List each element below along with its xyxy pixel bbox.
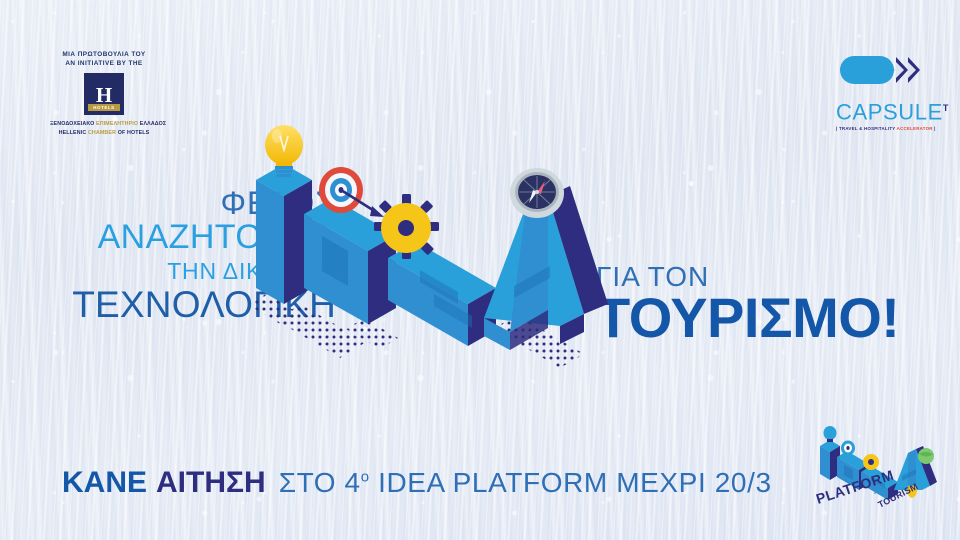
capsule-arrow-mark [836,50,932,90]
capsule-arrow-tip [882,63,895,77]
capsule-superscript-t: T [943,103,949,113]
poster-canvas: ΜΙΑ ΠΡΩΤΟΒΟΥΛΙΑ ΤΟΥ AN INITIATIVE BY THE… [0,0,960,540]
call-to-action-line: ΚΑΝΕ ΑΙΤΗΣΗ ΣΤΟ 4ο IDEA PLATFORM ΜΕΧΡΙ 2… [62,466,772,500]
chamber-name-english: HELLENIC CHAMBER OF HOTELS [50,129,158,138]
capsule-chevron-notch [896,62,904,78]
cta-emphasis-aitisi: ΑΙΤΗΣΗ [156,466,266,500]
idea-platform-tourism-logo: PLATFORM TOURISM [806,424,938,512]
chamber-name-block: ΞΕΝΟΔΟΧΕΙΑΚΟ ΕΠΙΜΕΛΗΤΗΡΙΟ ΕΛΛΑΔΟΣ HELLEN… [50,120,158,137]
logo-gear-icon [863,454,879,470]
cta-emphasis-kane: ΚΑΝΕ [62,466,147,500]
initiative-kicker-english: AN INITIATIVE BY THE [50,59,158,68]
capsule-tagline: | TRAVEL & HOSPITALITY ACCELERATOR | [836,126,932,131]
hellenic-chamber-of-hotels-logo: ΜΙΑ ΠΡΩΤΟΒΟΥΛΙΑ ΤΟΥ AN INITIATIVE BY THE… [50,50,158,137]
headline-line-tourismo: ΤΟΥΡΙΣΜΟ! [596,290,899,346]
cta-ordinal-marker: ο [361,469,370,486]
headline-right-block: ΓΙΑ ΤΟΝ ΤΟΥΡΙΣΜΟ! [596,262,899,346]
logo-target-icon [841,441,855,456]
capsule-chevron-notch [908,62,916,78]
compass-icon [510,168,564,218]
hotels-monogram-box: H HOTELS [84,73,124,115]
capsule-wordmark: CAPSULET [836,96,932,124]
chamber-name-greek: ΞΕΝΟΔΟΧΕΙΑΚΟ ΕΠΙΜΕΛΗΤΗΡΙΟ ΕΛΛΑΔΟΣ [50,120,158,129]
iso-letter-i [256,164,312,304]
logo-lightbulb-icon [824,426,837,442]
iso-letter-d [304,198,396,324]
logo-globe-icon [918,448,934,464]
cta-details: ΣΤΟ 4ο IDEA PLATFORM ΜΕΧΡΙ 20/3 [279,467,772,499]
hotels-monogram-letter: H [96,84,112,106]
isometric-idea-artwork [248,118,620,368]
initiative-kicker-greek: ΜΙΑ ΠΡΩΤΟΒΟΥΛΙΑ ΤΟΥ [50,50,158,59]
capsule-t-logo: CAPSULET | TRAVEL & HOSPITALITY ACCELERA… [836,50,932,131]
hotels-monogram-bar-label: HOTELS [88,104,120,111]
gear-icon [374,194,439,259]
